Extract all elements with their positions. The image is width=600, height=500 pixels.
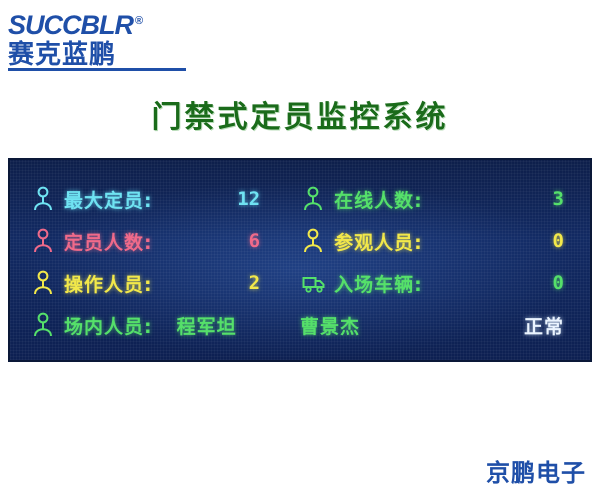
stat-value: 0	[553, 272, 590, 294]
led-row: 定员人数: 6 参观人员: 0	[10, 220, 590, 262]
stat-label: 最大定员:	[64, 186, 153, 213]
person-green-icon	[32, 312, 54, 338]
led-rows-container: 最大定员: 12 在线人数: 3	[10, 160, 590, 346]
person-pink-icon	[32, 228, 54, 254]
stat-label: 场内人员:	[64, 312, 153, 339]
person-yellow-icon	[32, 270, 54, 296]
stat-value: 3	[553, 188, 590, 210]
led-row: 操作人员: 2 入场车辆: 0	[10, 262, 590, 304]
stat-label: 定员人数:	[64, 228, 153, 255]
stat-label: 操作人员:	[64, 270, 153, 297]
stat-value: 12	[237, 188, 298, 210]
onsite-names-list: 曹景杰	[300, 312, 524, 339]
company-logo: SUCCBLR® 赛克蓝鹏	[8, 6, 208, 72]
stat-value: 0	[553, 230, 590, 252]
logo-english-text: SUCCBLR®	[8, 6, 142, 40]
truck-green-icon	[302, 270, 324, 296]
person-blue-icon	[32, 186, 54, 212]
registered-trademark-icon: ®	[135, 15, 142, 27]
stat-max-capacity: 最大定员: 12	[10, 186, 298, 213]
led-row-onsite-personnel: 场内人员: 程军坦 曹景杰 正常	[10, 304, 590, 346]
person-yellow-icon	[302, 228, 324, 254]
stat-value: 2	[249, 272, 298, 294]
led-row: 最大定员: 12 在线人数: 3	[10, 178, 590, 220]
led-display-panel: 最大定员: 12 在线人数: 3	[8, 158, 592, 362]
onsite-label-group: 场内人员: 程军坦	[10, 312, 300, 339]
stat-label: 入场车辆:	[334, 270, 423, 297]
stat-value: 6	[249, 230, 298, 252]
logo-english-label: SUCCBLR	[8, 10, 133, 40]
footer-company-name: 京鹏电子	[486, 453, 586, 488]
logo-underline-divider	[8, 68, 186, 71]
stat-visitor-count: 参观人员: 0	[298, 228, 590, 255]
status-badge: 正常	[524, 312, 590, 339]
onsite-person-name: 程军坦	[177, 312, 237, 339]
stat-online-count: 在线人数: 3	[298, 186, 590, 213]
stat-label: 参观人员:	[334, 228, 423, 255]
person-green-icon	[302, 186, 324, 212]
logo-chinese-label: 赛克蓝鹏	[8, 40, 208, 70]
stat-staff-quota: 定员人数: 6	[10, 228, 298, 255]
page-title: 门禁式定员监控系统	[0, 92, 600, 136]
onsite-person-name: 曹景杰	[300, 312, 360, 339]
stat-vehicle-count: 入场车辆: 0	[298, 270, 590, 297]
stat-label: 在线人数:	[334, 186, 423, 213]
stat-operator-count: 操作人员: 2	[10, 270, 298, 297]
